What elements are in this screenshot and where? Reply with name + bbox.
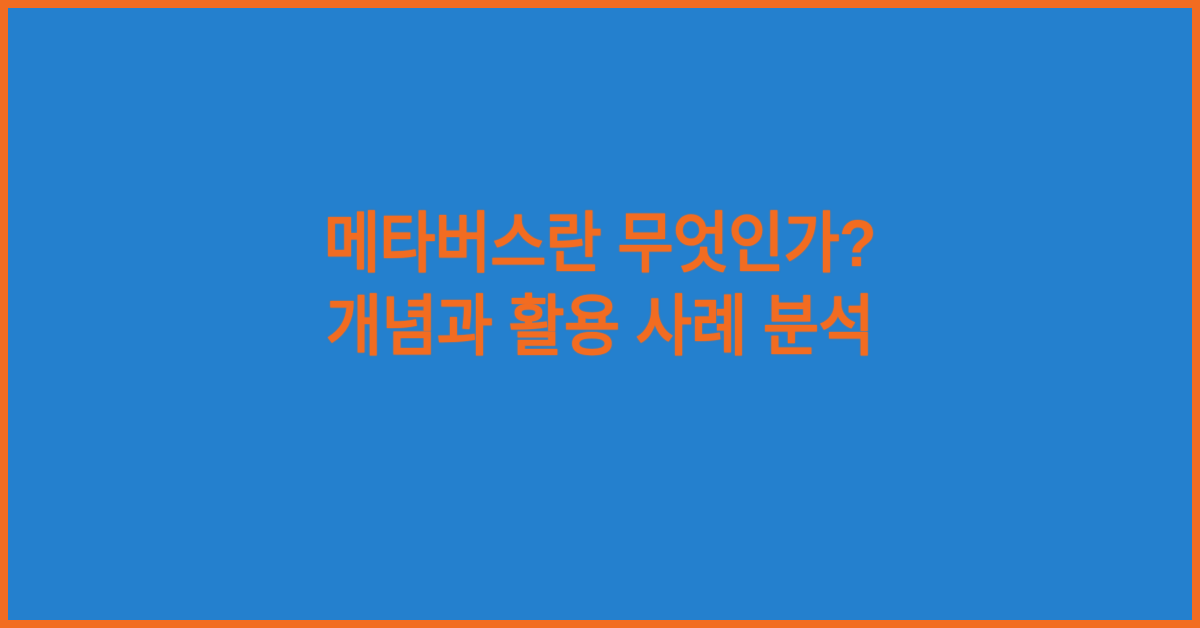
headline-block: 메타버스란 무엇인가? 개념과 활용 사례 분석 — [8, 205, 1192, 423]
thumbnail-card: 메타버스란 무엇인가? 개념과 활용 사례 분석 — [0, 0, 1200, 628]
headline-line-1: 메타버스란 무엇인가? — [111, 205, 1090, 282]
headline-line-2: 개념과 활용 사례 분석 — [111, 288, 1090, 365]
